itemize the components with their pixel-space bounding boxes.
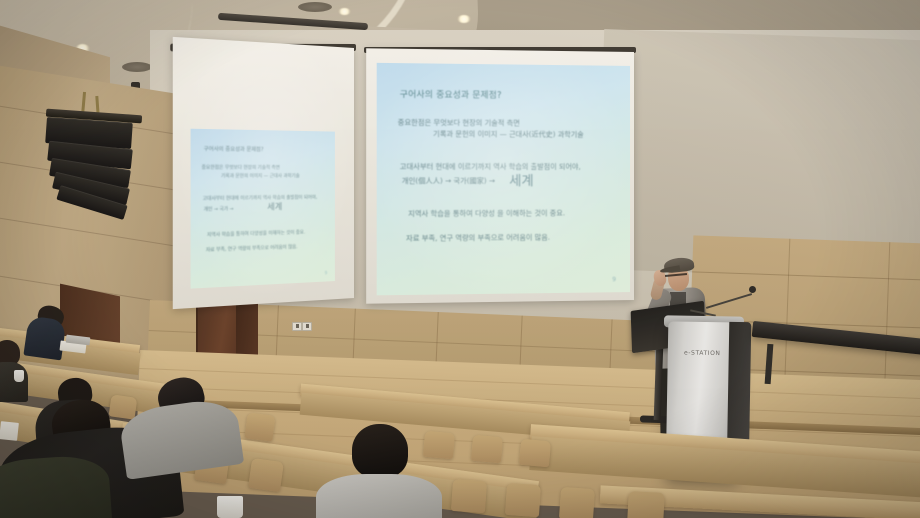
- lecture-hall-photo: 구어사의 중요성과 문제점? 중요한점은 무엇보다 현장의 기술적 측면 기록과…: [0, 0, 920, 518]
- main-slide-title: 구어사의 중요성과 문제점?: [400, 88, 502, 101]
- main-slide-page-number: 9: [612, 276, 616, 283]
- audience-member: [122, 378, 252, 473]
- seat-back[interactable]: [471, 435, 503, 464]
- downlight-icon: [457, 15, 471, 23]
- seat-back[interactable]: [505, 483, 541, 517]
- paper-cup[interactable]: [14, 370, 24, 382]
- wall-outlet[interactable]: [292, 322, 302, 331]
- left-projection-screen: 구어사의 중요성과 문제점? 중요한점은 무엇보다 현장의 기술적 측면 기록과…: [173, 37, 354, 309]
- seat-back[interactable]: [451, 479, 487, 513]
- main-slide: 구어사의 중요성과 문제점? 중요한점은 무엇보다 현장의 기술적 측면 기록과…: [377, 63, 630, 295]
- podium-brand-label: e-STATION: [684, 349, 744, 357]
- line-array-speaker: [44, 114, 148, 214]
- torso: [118, 396, 244, 480]
- jacket-shoulder: [0, 454, 112, 518]
- main-slide-emphasis: 세계: [509, 170, 533, 189]
- notebook[interactable]: [0, 421, 19, 441]
- left-slide-line6: 자료 부족, 연구 역량의 부족으로 어려움이 많음.: [206, 244, 298, 254]
- main-slide-line5: 지역사 학습을 통하여 다양성 을 이해하는 것이 중요.: [408, 208, 565, 219]
- main-projection-screen: 구어사의 중요성과 문제점? 중요한점은 무엇보다 현장의 기술적 측면 기록과…: [366, 48, 634, 303]
- hair: [352, 424, 408, 478]
- torso: [0, 362, 28, 402]
- main-slide-line1: 중요한점은 무엇보다 현장의 기술적 측면: [398, 117, 520, 128]
- left-slide-page-number: 9: [325, 270, 327, 275]
- audience-member: [0, 340, 32, 396]
- left-slide-line5: 지역사 학습을 통하여 다양성을 이해하는 것이 중요.: [207, 229, 305, 238]
- seat-back[interactable]: [519, 439, 551, 468]
- left-slide-title: 구어사의 중요성과 문제점?: [204, 145, 264, 153]
- left-slide-line4: 개인 → 국가 →: [204, 206, 234, 213]
- seat-back[interactable]: [559, 487, 595, 518]
- left-slide-emphasis: 세계: [267, 201, 282, 213]
- main-slide-line6: 자료 부족, 연구 역량의 부족으로 어려움이 많음.: [406, 233, 550, 244]
- seat-back[interactable]: [627, 491, 665, 518]
- paper-cup[interactable]: [217, 496, 243, 518]
- ceiling-vent: [122, 62, 152, 72]
- torso: [316, 474, 442, 518]
- audience-member: [320, 424, 440, 518]
- left-slide-line1: 중요한점은 무엇보다 현장의 기술적 측면: [202, 164, 280, 171]
- ceiling-vent: [298, 2, 332, 12]
- downlight-icon: [338, 8, 351, 15]
- main-slide-line3: 고대사부터 현대에 이르기까지 역사 학습의 출발점이 되어야,: [400, 162, 581, 172]
- seat-back[interactable]: [248, 458, 284, 492]
- main-slide-line4: 개인(個人人) → 국가(國家) →: [402, 176, 495, 186]
- main-slide-line2: 기록과 문헌의 이미지 — 근대사(近代史) 과학기술: [433, 129, 584, 140]
- left-slide-line3: 고대사부터 현대에 이르기까지 역사 학습의 출발점이 되어야,: [203, 194, 318, 202]
- left-slide: 구어사의 중요성과 문제점? 중요한점은 무엇보다 현장의 기술적 측면 기록과…: [191, 129, 335, 289]
- left-slide-line2: 기록과 문헌의 이미지 — 근대사 과학기술: [221, 173, 300, 179]
- wall-outlet[interactable]: [302, 322, 312, 331]
- microphone-icon[interactable]: [749, 286, 756, 293]
